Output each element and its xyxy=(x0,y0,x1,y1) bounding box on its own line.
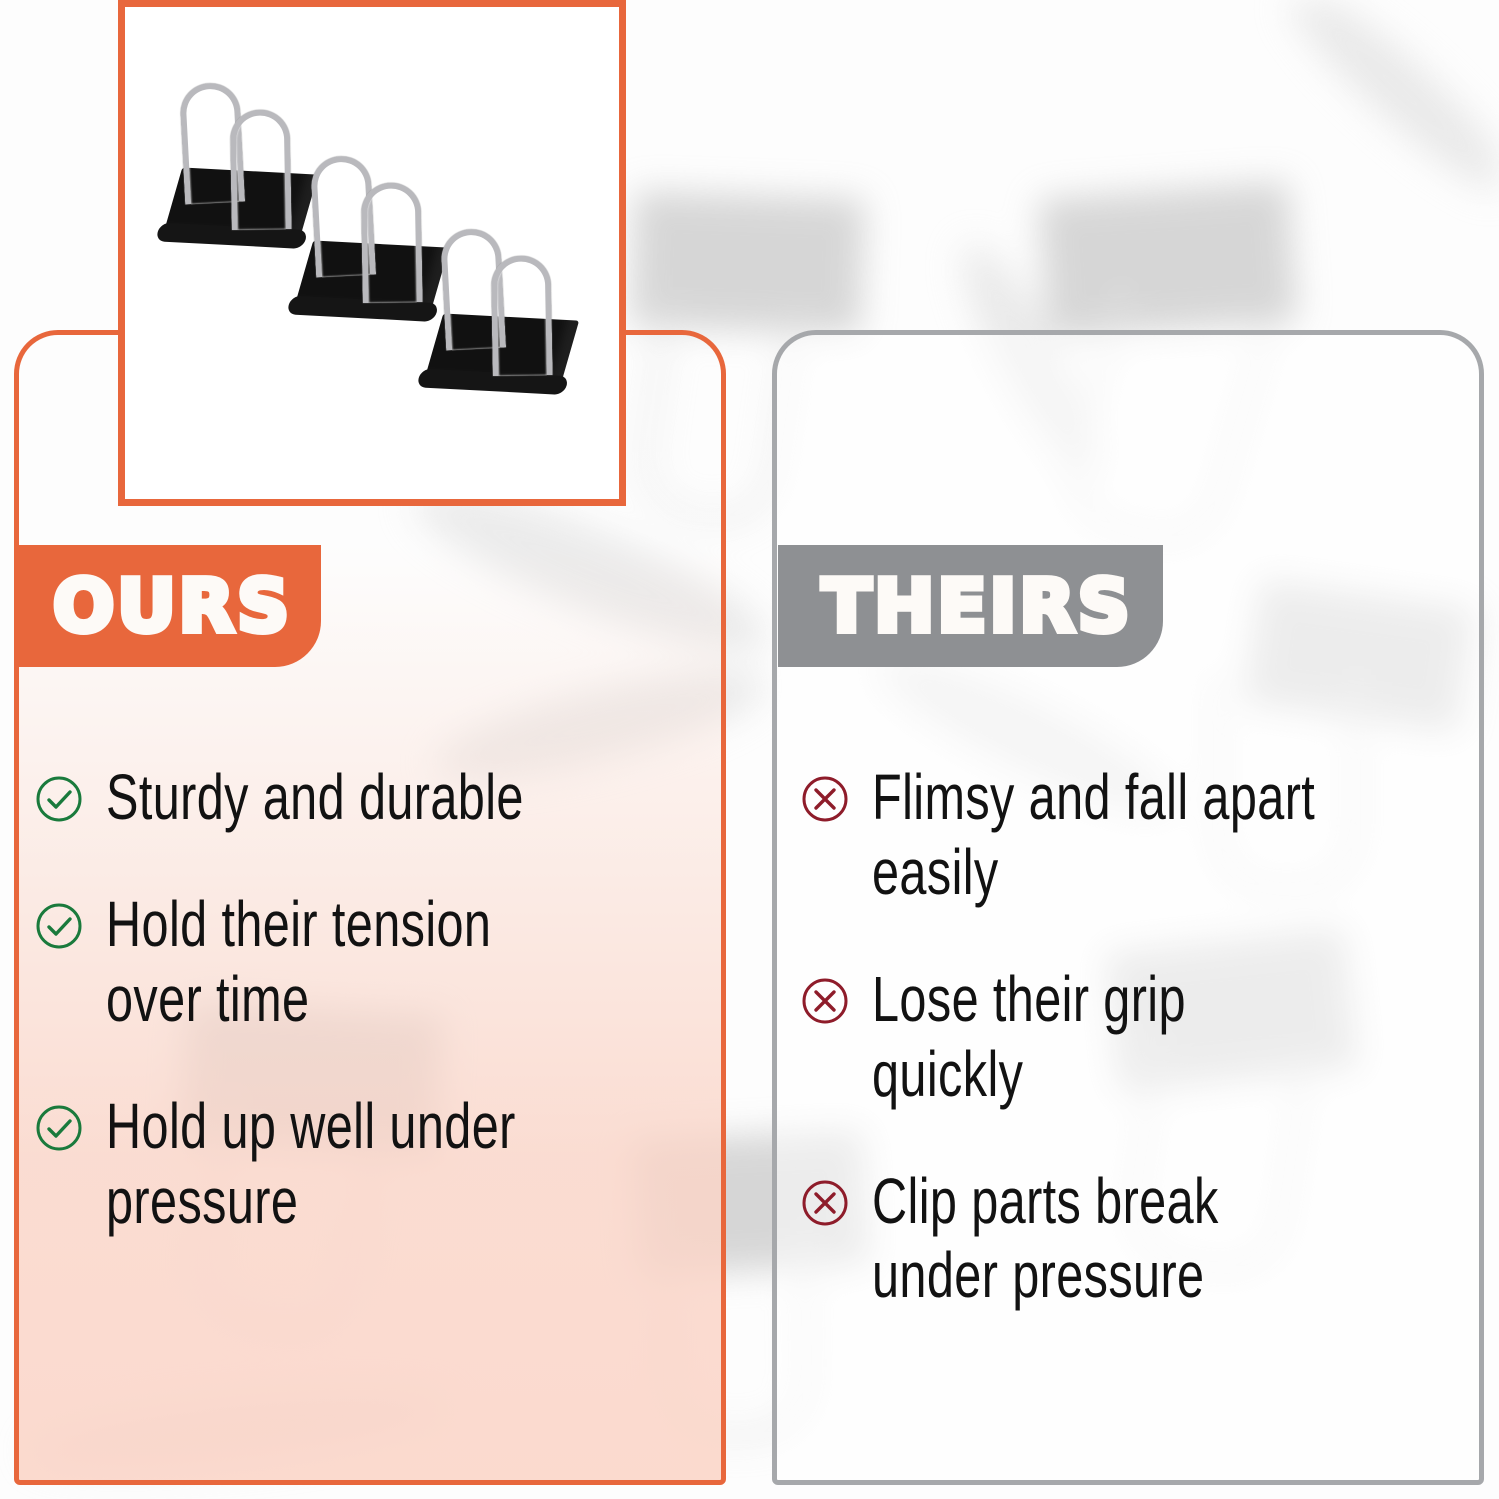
feature-text: Hold their tension over time xyxy=(106,887,538,1037)
binder-clip-3 xyxy=(426,221,595,397)
list-item: Flimsy and fall apart easily xyxy=(800,760,1465,910)
list-item: Clip parts break under pressure xyxy=(800,1164,1465,1314)
cross-circle-icon xyxy=(800,1178,850,1228)
cross-circle-icon xyxy=(800,976,850,1026)
ours-feature-list: Sturdy and durable Hold their tension ov… xyxy=(34,760,674,1290)
product-photo xyxy=(118,0,626,506)
feature-text: Flimsy and fall apart easily xyxy=(872,760,1323,910)
comparison-infographic: OURS THEIRS Sturdy and durable Hold thei… xyxy=(0,0,1499,1499)
check-circle-icon xyxy=(34,774,84,824)
clip-handle-right xyxy=(361,182,423,303)
feature-text: Sturdy and durable xyxy=(106,760,538,835)
clip-handle-right xyxy=(491,255,553,376)
list-item: Sturdy and durable xyxy=(34,760,674,835)
feature-text: Clip parts break under pressure xyxy=(872,1164,1323,1314)
check-circle-icon xyxy=(34,1103,84,1153)
feature-text: Hold up well under pressure xyxy=(106,1089,538,1239)
theirs-feature-list: Flimsy and fall apart easily Lose their … xyxy=(800,760,1465,1365)
feature-text: Lose their grip quickly xyxy=(872,962,1323,1112)
clip-handle-right xyxy=(230,109,292,230)
theirs-banner-label: THEIRS xyxy=(822,570,1133,642)
theirs-banner: THEIRS xyxy=(778,545,1163,667)
check-circle-icon xyxy=(34,901,84,951)
cross-circle-icon xyxy=(800,774,850,824)
list-item: Hold their tension over time xyxy=(34,887,674,1037)
list-item: Hold up well under pressure xyxy=(34,1089,674,1239)
ours-banner: OURS xyxy=(19,545,321,667)
list-item: Lose their grip quickly xyxy=(800,962,1465,1112)
ours-banner-label: OURS xyxy=(53,570,292,642)
